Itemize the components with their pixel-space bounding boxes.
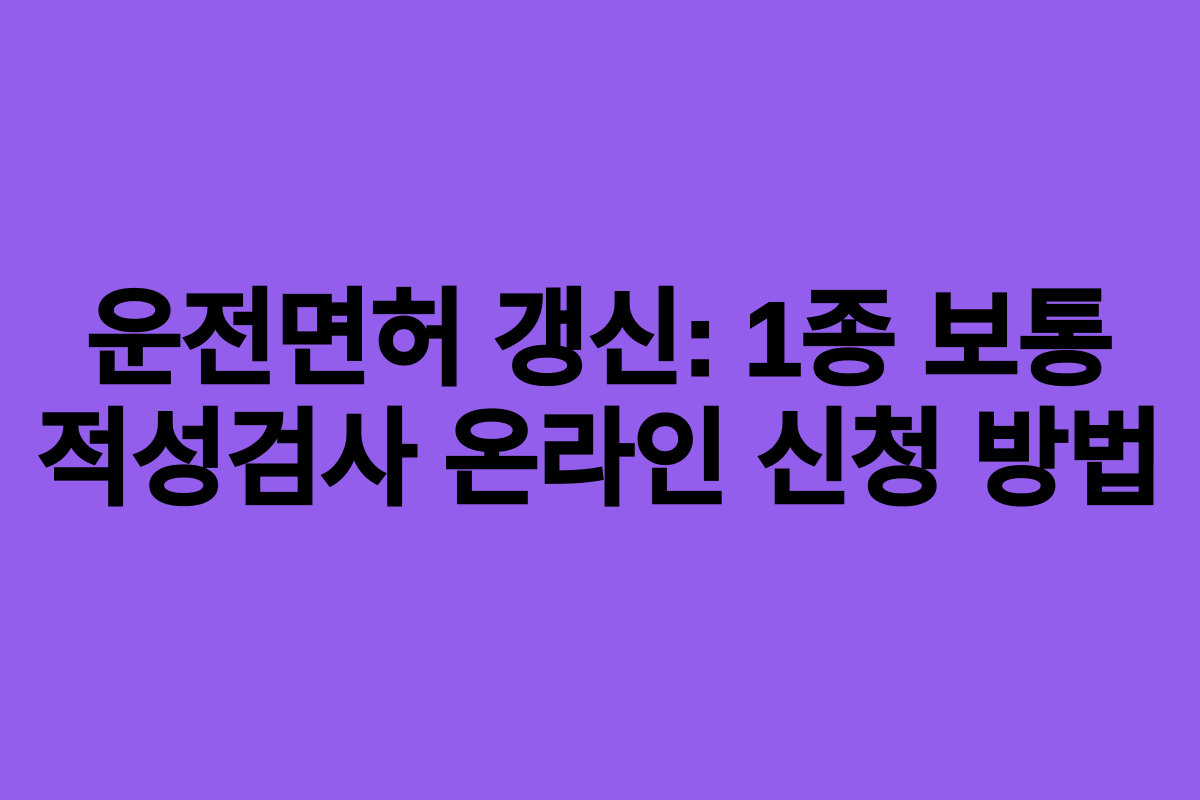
title-line-2: 적성검사 온라인 신청 방법 <box>37 400 1162 520</box>
thumbnail-canvas: 운전면허 갱신: 1종 보통 적성검사 온라인 신청 방법 <box>0 0 1200 800</box>
title-block: 운전면허 갱신: 1종 보통 적성검사 온라인 신청 방법 <box>20 280 1180 520</box>
title-line-1: 운전면허 갱신: 1종 보통 <box>87 280 1113 400</box>
